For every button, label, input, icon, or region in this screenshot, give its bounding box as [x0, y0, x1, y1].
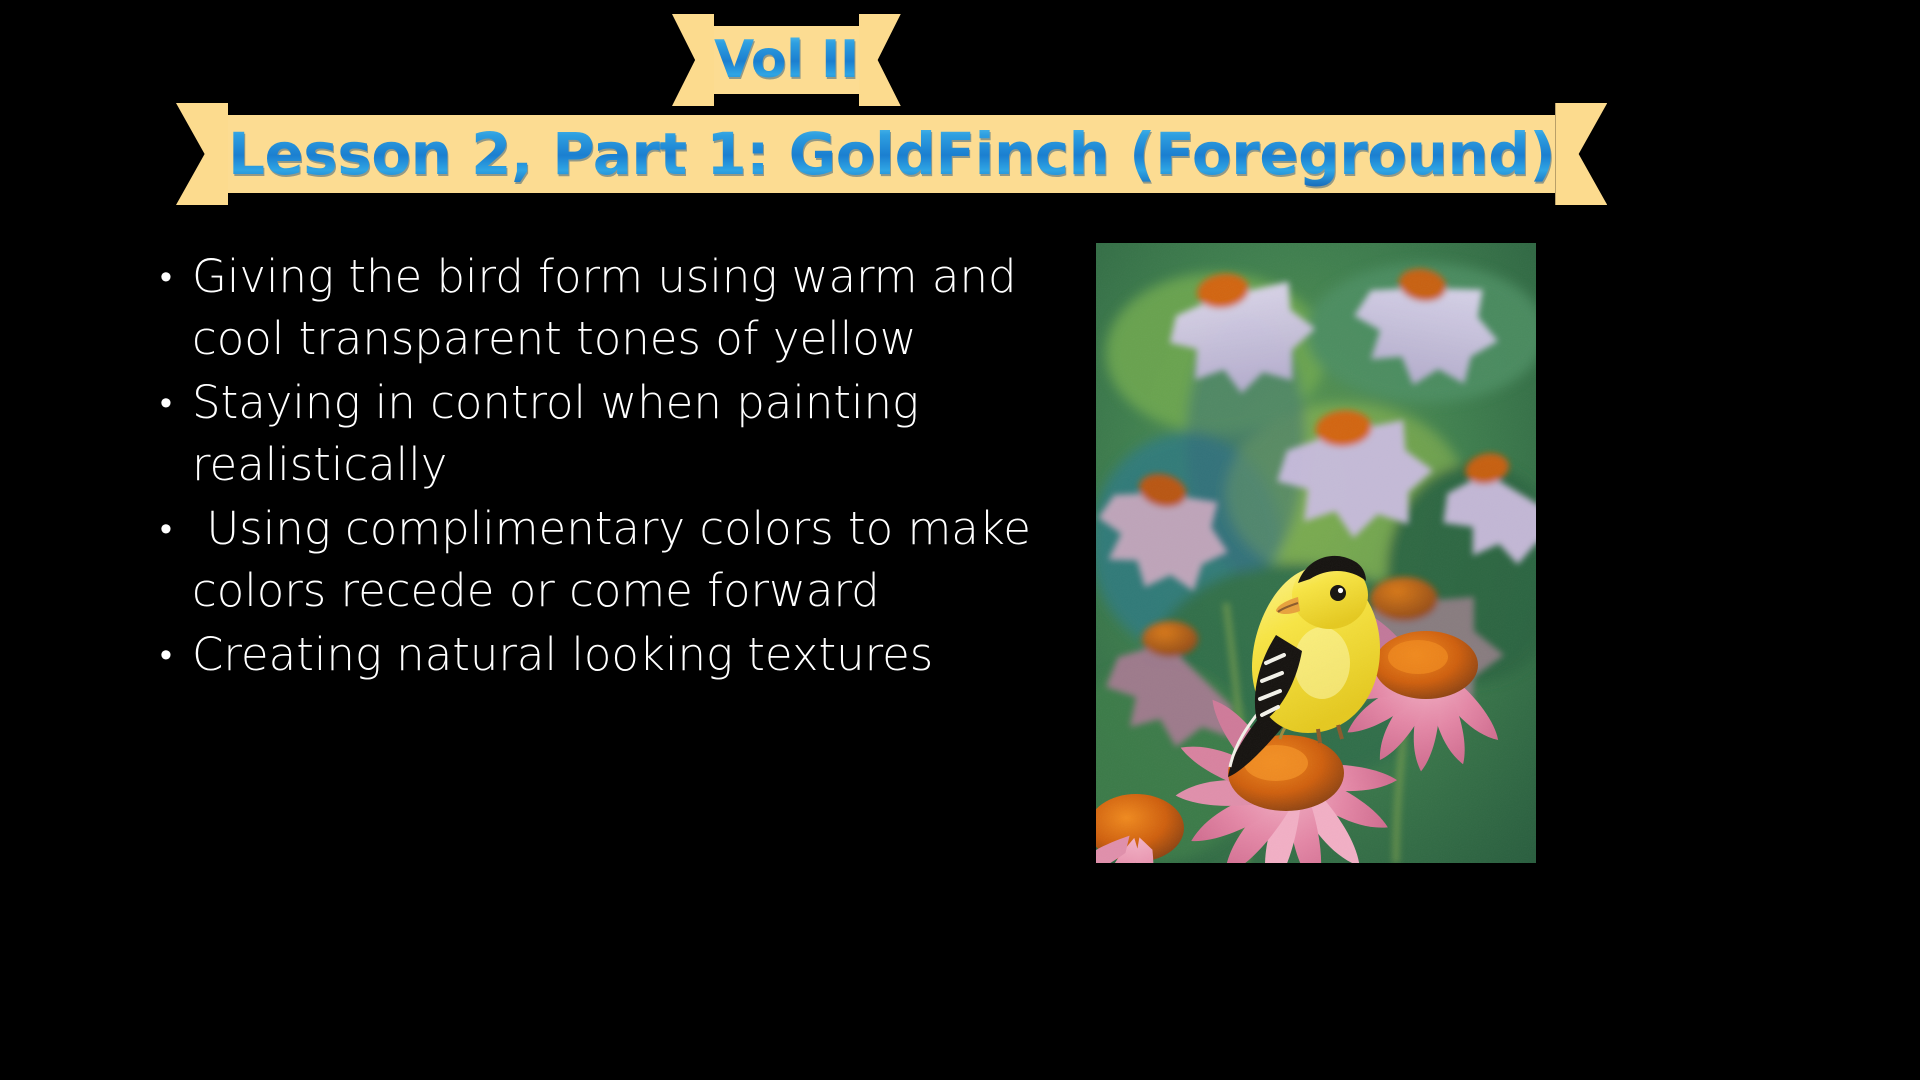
title-ribbon-tail-right-icon	[1555, 103, 1607, 205]
volume-ribbon-body: Vol II	[714, 26, 859, 94]
list-item-label: Giving the bird form using warm and cool…	[192, 246, 1050, 370]
list-item-label: Staying in control when painting realist…	[192, 372, 1050, 496]
bullet-marker-icon: •	[140, 624, 192, 686]
page-title: Lesson 2, Part 1: GoldFinch (Foreground)	[228, 120, 1555, 188]
title-ribbon-tail-left-icon	[176, 103, 228, 205]
bullet-marker-icon: •	[140, 498, 192, 560]
list-item: • Staying in control when painting reali…	[140, 372, 1050, 496]
volume-label: Vol II	[714, 30, 859, 90]
ribbon-tail-left-icon	[672, 14, 714, 106]
title-ribbon-body: Lesson 2, Part 1: GoldFinch (Foreground)	[228, 115, 1555, 193]
list-item: • Creating natural looking textures	[140, 624, 1050, 686]
list-item-label: Creating natural looking textures	[192, 624, 1050, 686]
slide-root: Vol II Lesson 2, Part 1: GoldFinch (Fore…	[0, 0, 1920, 1080]
list-item: • Giving the bird form using warm and co…	[140, 246, 1050, 370]
title-ribbon-banner: Lesson 2, Part 1: GoldFinch (Foreground)	[176, 103, 1392, 205]
list-item-label: Using complimentary colors to make color…	[192, 498, 1050, 622]
bullet-marker-icon: •	[140, 246, 192, 308]
bullet-list: • Giving the bird form using warm and co…	[140, 246, 1050, 688]
volume-ribbon-banner: Vol II	[672, 14, 894, 106]
ribbon-tail-right-icon	[859, 14, 901, 106]
painting-artwork	[1096, 243, 1536, 863]
goldfinch-painting-image	[1096, 243, 1536, 863]
list-item: • Using complimentary colors to make col…	[140, 498, 1050, 622]
bullet-marker-icon: •	[140, 372, 192, 434]
